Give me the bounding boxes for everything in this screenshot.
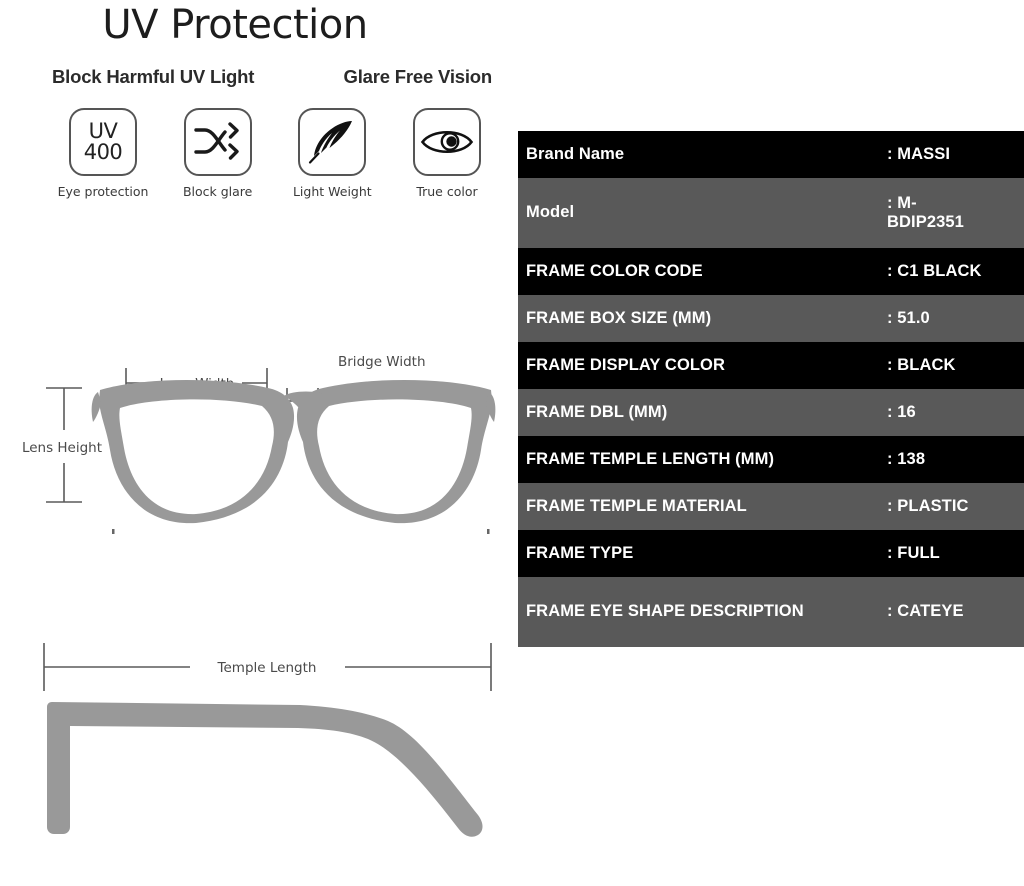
temple-silhouette [47,702,483,837]
specification-table: Brand Name : MASSI Model : M- BDIP2351 F… [518,131,1024,647]
table-row: Model : M- BDIP2351 [518,178,1024,248]
spec-key: FRAME TYPE [526,538,887,569]
table-row: FRAME TEMPLE MATERIAL : PLASTIC [518,483,1024,530]
spec-key: FRAME DISPLAY COLOR [526,350,887,381]
spec-key: FRAME DBL (MM) [526,397,887,428]
spec-value: : C1 BLACK [887,256,1024,287]
spec-key: FRAME TEMPLE LENGTH (MM) [526,444,887,475]
promo-subtitle-uv-light: Block Harmful UV Light [52,66,254,88]
promo-subtitles: Block Harmful UV Light Glare Free Vision [52,66,492,88]
promo-panel: UV Protection Block Harmful UV Light Gla… [0,0,512,886]
spec-value: : CATEYE [887,596,1024,627]
spec-key: Brand Name [526,139,887,170]
table-row: FRAME DISPLAY COLOR : BLACK [518,342,1024,389]
spec-value: : PLASTIC [887,491,1024,522]
spec-value: : MASSI [887,139,1024,170]
spec-value: : 51.0 [887,303,1024,334]
spec-value: : 138 [887,444,1024,475]
spec-value: : M- BDIP2351 [887,188,1024,239]
table-row: FRAME TYPE : FULL [518,530,1024,577]
page-title: UV Protection [0,2,470,48]
label-bridge-width: Bridge Width [338,354,426,370]
feature-light-weight: Light Weight [284,108,380,199]
table-row: FRAME TEMPLE LENGTH (MM) : 138 [518,436,1024,483]
label-lens-height: Lens Height [22,440,102,456]
feature-block-glare: Block glare [170,108,266,199]
spec-key: FRAME COLOR CODE [526,256,887,287]
table-row: FRAME EYE SHAPE DESCRIPTION : CATEYE [518,577,1024,647]
shuffle-arrows-icon [184,108,252,176]
table-row: Brand Name : MASSI [518,131,1024,178]
label-temple-length: Temple Length [217,660,317,676]
feature-true-color: True color [399,108,495,199]
table-row: FRAME BOX SIZE (MM) : 51.0 [518,295,1024,342]
spec-key: Model [526,197,887,228]
uv400-badge-line2: 400 [84,142,123,163]
spec-key: FRAME BOX SIZE (MM) [526,303,887,334]
spec-value: : 16 [887,397,1024,428]
uv400-badge-line1: UV [84,121,123,142]
table-row: FRAME COLOR CODE : C1 BLACK [518,248,1024,295]
frame-silhouette [92,380,496,523]
spec-key: FRAME TEMPLE MATERIAL [526,491,887,522]
eye-icon [413,108,481,176]
feather-icon [298,108,366,176]
uv400-icon: UV 400 [69,108,137,176]
feature-caption-block-glare: Block glare [183,184,252,199]
feature-caption-eye-protection: Eye protection [58,184,149,199]
spec-key: FRAME EYE SHAPE DESCRIPTION [526,596,887,627]
spec-value: : FULL [887,538,1024,569]
feature-caption-true-color: True color [416,184,477,199]
eyeglasses-front-measurement-diagram: Lens Width Bridge Width Lens Height [0,330,512,560]
eyeglasses-temple-measurement-diagram: Temple Length [0,625,512,855]
table-row: FRAME DBL (MM) : 16 [518,389,1024,436]
feature-caption-light-weight: Light Weight [293,184,372,199]
feature-eye-protection: UV 400 Eye protection [55,108,151,199]
feature-icon-row: UV 400 Eye protection Block glare [55,108,495,199]
promo-subtitle-glare-free: Glare Free Vision [344,66,492,88]
spec-value: : BLACK [887,350,1024,381]
